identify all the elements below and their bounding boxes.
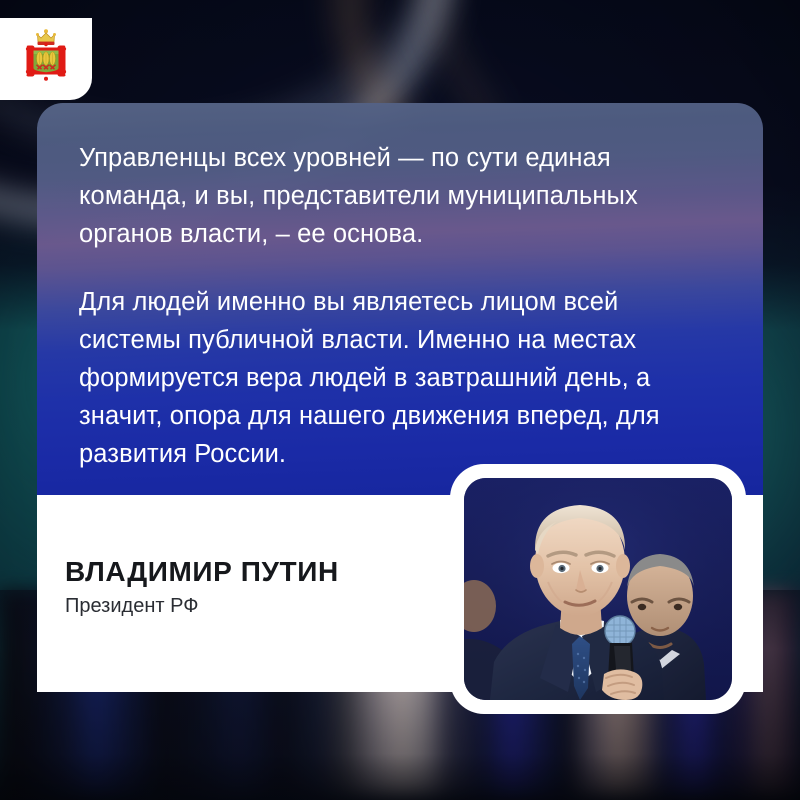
coat-of-arms-icon — [18, 28, 74, 90]
quote-card: Управленцы всех уровней — по сути единая… — [37, 103, 763, 495]
speaker-role: Президент РФ — [65, 594, 339, 619]
quote-paragraph-2: Для людей именно вы являетесь лицом всей… — [79, 283, 721, 473]
speaker-name: ВЛАДИМИР ПУТИН — [65, 557, 339, 588]
attribution-text-block: ВЛАДИМИР ПУТИН Президент РФ — [65, 557, 339, 619]
portrait-frame — [450, 464, 746, 714]
quote-paragraph-1: Управленцы всех уровней — по сути единая… — [79, 139, 721, 253]
emblem-plate — [0, 18, 92, 100]
portrait-photo — [464, 478, 732, 700]
quote-card-canvas: Управленцы всех уровней — по сути единая… — [0, 0, 800, 800]
